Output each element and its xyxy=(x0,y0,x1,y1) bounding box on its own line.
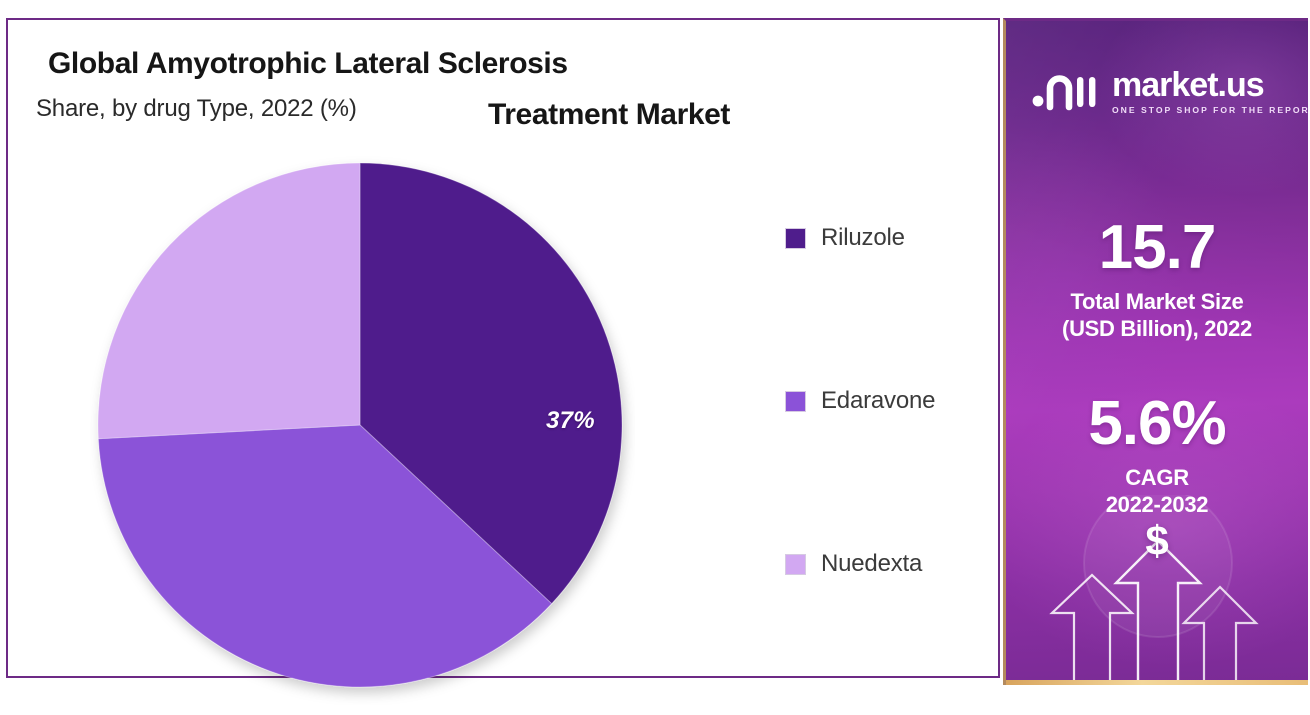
growth-arrows-artwork: $ xyxy=(1006,495,1308,680)
legend-swatch-icon xyxy=(786,392,805,411)
page-title: Global Amyotrophic Lateral Sclerosis xyxy=(48,46,748,81)
stat-value: 15.7 xyxy=(1006,217,1308,279)
pie-slice-label-riluzole: 37% xyxy=(546,407,595,435)
brand-name: market.us xyxy=(1112,68,1308,102)
dollar-sign-icon: $ xyxy=(1006,517,1308,565)
legend-item-riluzole[interactable]: Riluzole xyxy=(786,226,996,250)
legend-label: Edaravone xyxy=(821,387,935,415)
chart-legend: Riluzole Edaravone Nuedexta xyxy=(786,226,996,576)
infographic-root: Global Amyotrophic Lateral Sclerosis Sha… xyxy=(0,0,1310,715)
legend-item-edaravone[interactable]: Edaravone xyxy=(786,389,996,413)
page-title-line2: Treatment Market xyxy=(488,98,730,132)
stat-value: 5.6% xyxy=(1006,393,1308,455)
stat-caption: Total Market Size (USD Billion), 2022 xyxy=(1006,289,1308,343)
pie-slices xyxy=(98,163,622,687)
brand-sidebar: market.us ONE STOP SHOP FOR THE REPORTS … xyxy=(1003,18,1308,685)
legend-item-nuedexta[interactable]: Nuedexta xyxy=(786,552,996,576)
brand-logo[interactable]: market.us ONE STOP SHOP FOR THE REPORTS xyxy=(1030,67,1308,115)
legend-label: Nuedexta xyxy=(821,550,922,578)
legend-label: Riluzole xyxy=(821,224,905,252)
market-us-logo-icon xyxy=(1030,67,1102,111)
pie-slice-nuedexta[interactable] xyxy=(98,163,360,439)
legend-swatch-icon xyxy=(786,229,805,248)
chart-panel: Global Amyotrophic Lateral Sclerosis Sha… xyxy=(6,18,1000,678)
stat-total-market-size: 15.7 Total Market Size (USD Billion), 20… xyxy=(1006,217,1308,343)
brand-logo-text: market.us ONE STOP SHOP FOR THE REPORTS xyxy=(1112,68,1308,115)
brand-tagline: ONE STOP SHOP FOR THE REPORTS xyxy=(1112,105,1308,115)
pie-chart: 37% xyxy=(90,145,635,705)
page-subtitle: Share, by drug Type, 2022 (%) xyxy=(36,95,357,123)
stat-caption-line2: (USD Billion), 2022 xyxy=(1006,316,1308,343)
legend-swatch-icon xyxy=(786,555,805,574)
stat-caption-line1: Total Market Size xyxy=(1006,289,1308,316)
stat-caption-line1: CAGR xyxy=(1006,465,1308,492)
sidebar-bottom-accent xyxy=(1006,680,1308,685)
